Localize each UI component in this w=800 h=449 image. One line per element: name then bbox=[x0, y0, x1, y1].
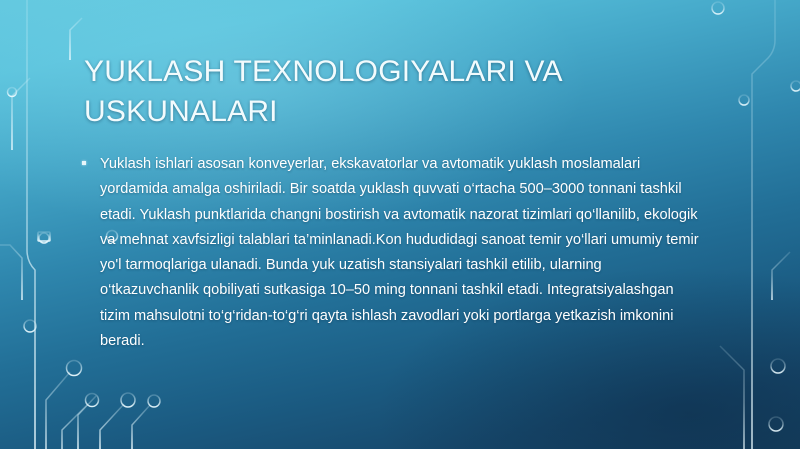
slide-title: YUKLASH TEXNOLOGIYALARI VA USKUNALARI bbox=[84, 52, 624, 132]
slide-bullet-list: Yuklash ishlari asosan konveyerlar, eksk… bbox=[80, 152, 700, 354]
list-item: Yuklash ishlari asosan konveyerlar, eksk… bbox=[80, 152, 700, 354]
presentation-slide: YUKLASH TEXNOLOGIYALARI VA USKUNALARI Yu… bbox=[0, 0, 800, 449]
slide-content-area: YUKLASH TEXNOLOGIYALARI VA USKUNALARI Yu… bbox=[0, 0, 800, 449]
bullet-paragraph: Yuklash ishlari asosan konveyerlar, eksk… bbox=[100, 152, 700, 354]
square-bullet-icon bbox=[82, 161, 86, 165]
